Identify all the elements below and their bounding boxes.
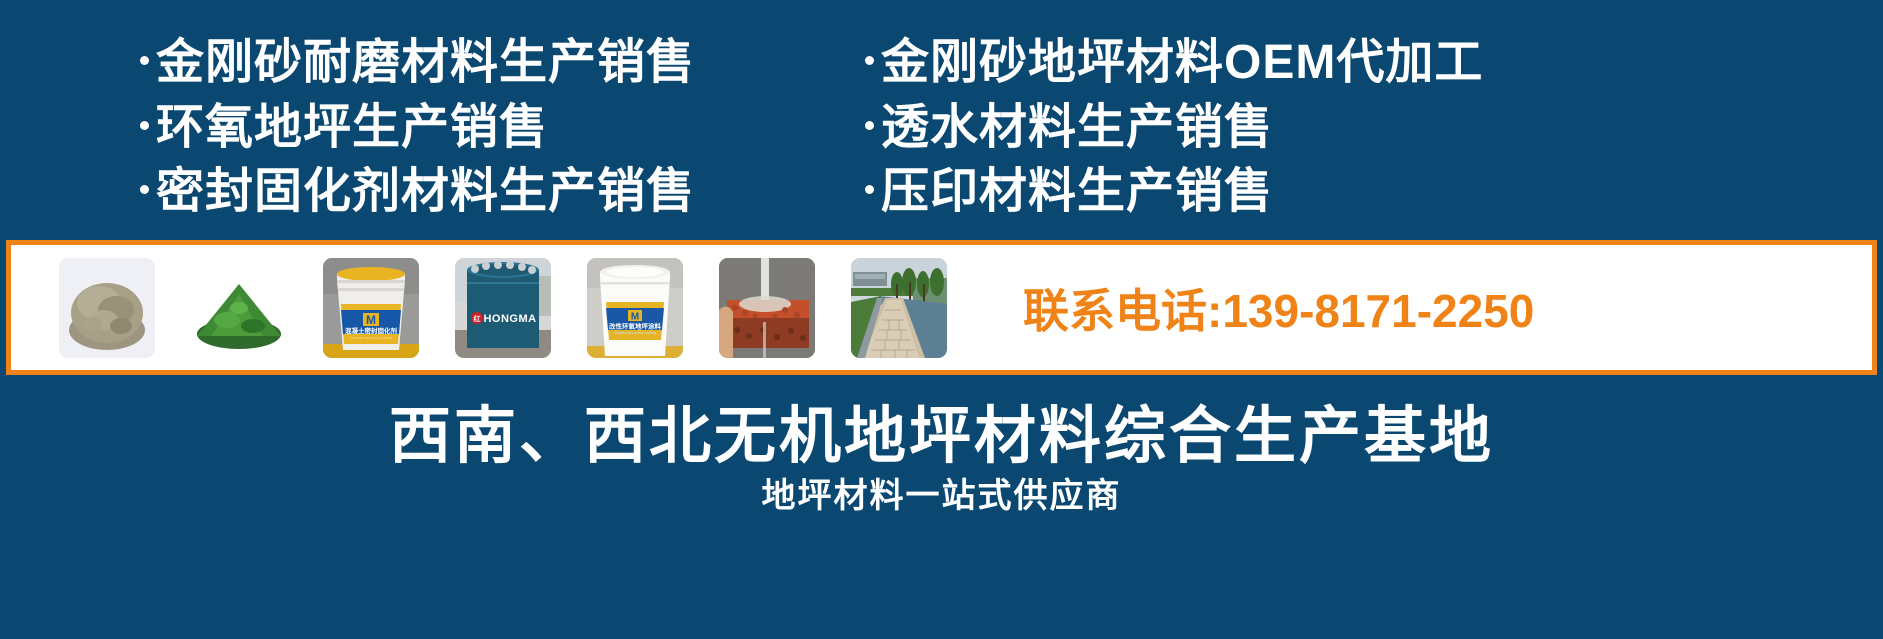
emery-hardener-powder-image	[59, 258, 155, 358]
svg-text:Modified epoxy floor coating: Modified epoxy floor coating	[614, 331, 656, 335]
feature-list: 金刚砂耐磨材料生产销售 环氧地坪生产销售 密封固化剂材料生产销售 金刚砂地坪材料…	[0, 34, 1883, 224]
feature-item-label: 密封固化剂材料生产销售	[156, 163, 695, 222]
concrete-sealer-pail-image: M 混凝土密封固化剂 Concrete seal curing agent	[323, 258, 419, 358]
footer-subline: 地坪材料一站式供应商	[0, 468, 1883, 517]
svg-text:M: M	[631, 311, 639, 322]
epoxy-coating-pail-image: M 改性环氧地坪涂料 Modified epoxy floor coating	[587, 258, 683, 358]
feature-item: 透水材料生产销售	[865, 99, 1605, 158]
permeable-concrete-sample-image	[719, 258, 815, 358]
feature-item: 密封固化剂材料生产销售	[140, 163, 840, 222]
feature-item-label: 透水材料生产销售	[881, 99, 1273, 158]
green-color-powder-image	[191, 258, 287, 358]
svg-text:红: 红	[474, 314, 481, 323]
feature-item: 金刚砂耐磨材料生产销售	[140, 34, 840, 93]
contact-phone[interactable]: 联系电话:139-8171-2250	[1023, 275, 1534, 341]
feature-item: 环氧地坪生产销售	[140, 99, 840, 158]
svg-text:Concrete seal curing agent: Concrete seal curing agent	[350, 336, 393, 340]
bullet-dot-icon	[140, 56, 149, 65]
footer-headline: 西南、西北无机地坪材料综合生产基地	[0, 385, 1883, 475]
product-thumbnail-row: M 混凝土密封固化剂 Concrete seal curing agent	[59, 258, 947, 358]
svg-text:混凝土密封固化剂: 混凝土密封固化剂	[345, 326, 398, 335]
hongma-drum-image: 红 HONGMA	[455, 258, 551, 358]
feature-item: 压印材料生产销售	[865, 163, 1605, 222]
bullet-dot-icon	[140, 185, 149, 194]
bullet-dot-icon	[865, 56, 874, 65]
feature-item-label: 金刚砂地坪材料OEM代加工	[881, 34, 1483, 93]
feature-item-label: 压印材料生产销售	[881, 163, 1273, 222]
bullet-dot-icon	[865, 121, 874, 130]
svg-text:改性环氧地坪涂料: 改性环氧地坪涂料	[609, 321, 662, 330]
bullet-dot-icon	[865, 185, 874, 194]
svg-text:HONGMA: HONGMA	[483, 313, 536, 325]
feature-column-left: 金刚砂耐磨材料生产销售 环氧地坪生产销售 密封固化剂材料生产销售	[140, 34, 840, 224]
feature-item-label: 环氧地坪生产销售	[156, 99, 548, 158]
feature-item-label: 金刚砂耐磨材料生产销售	[156, 34, 695, 93]
product-strip: M 混凝土密封固化剂 Concrete seal curing agent	[6, 240, 1877, 375]
feature-column-right: 金刚砂地坪材料OEM代加工 透水材料生产销售 压印材料生产销售	[865, 34, 1605, 224]
stamped-concrete-path-image	[851, 258, 947, 358]
bullet-dot-icon	[140, 121, 149, 130]
svg-text:M: M	[366, 313, 376, 327]
feature-item: 金刚砂地坪材料OEM代加工	[865, 34, 1605, 93]
promo-banner: 金刚砂耐磨材料生产销售 环氧地坪生产销售 密封固化剂材料生产销售 金刚砂地坪材料…	[0, 0, 1883, 639]
